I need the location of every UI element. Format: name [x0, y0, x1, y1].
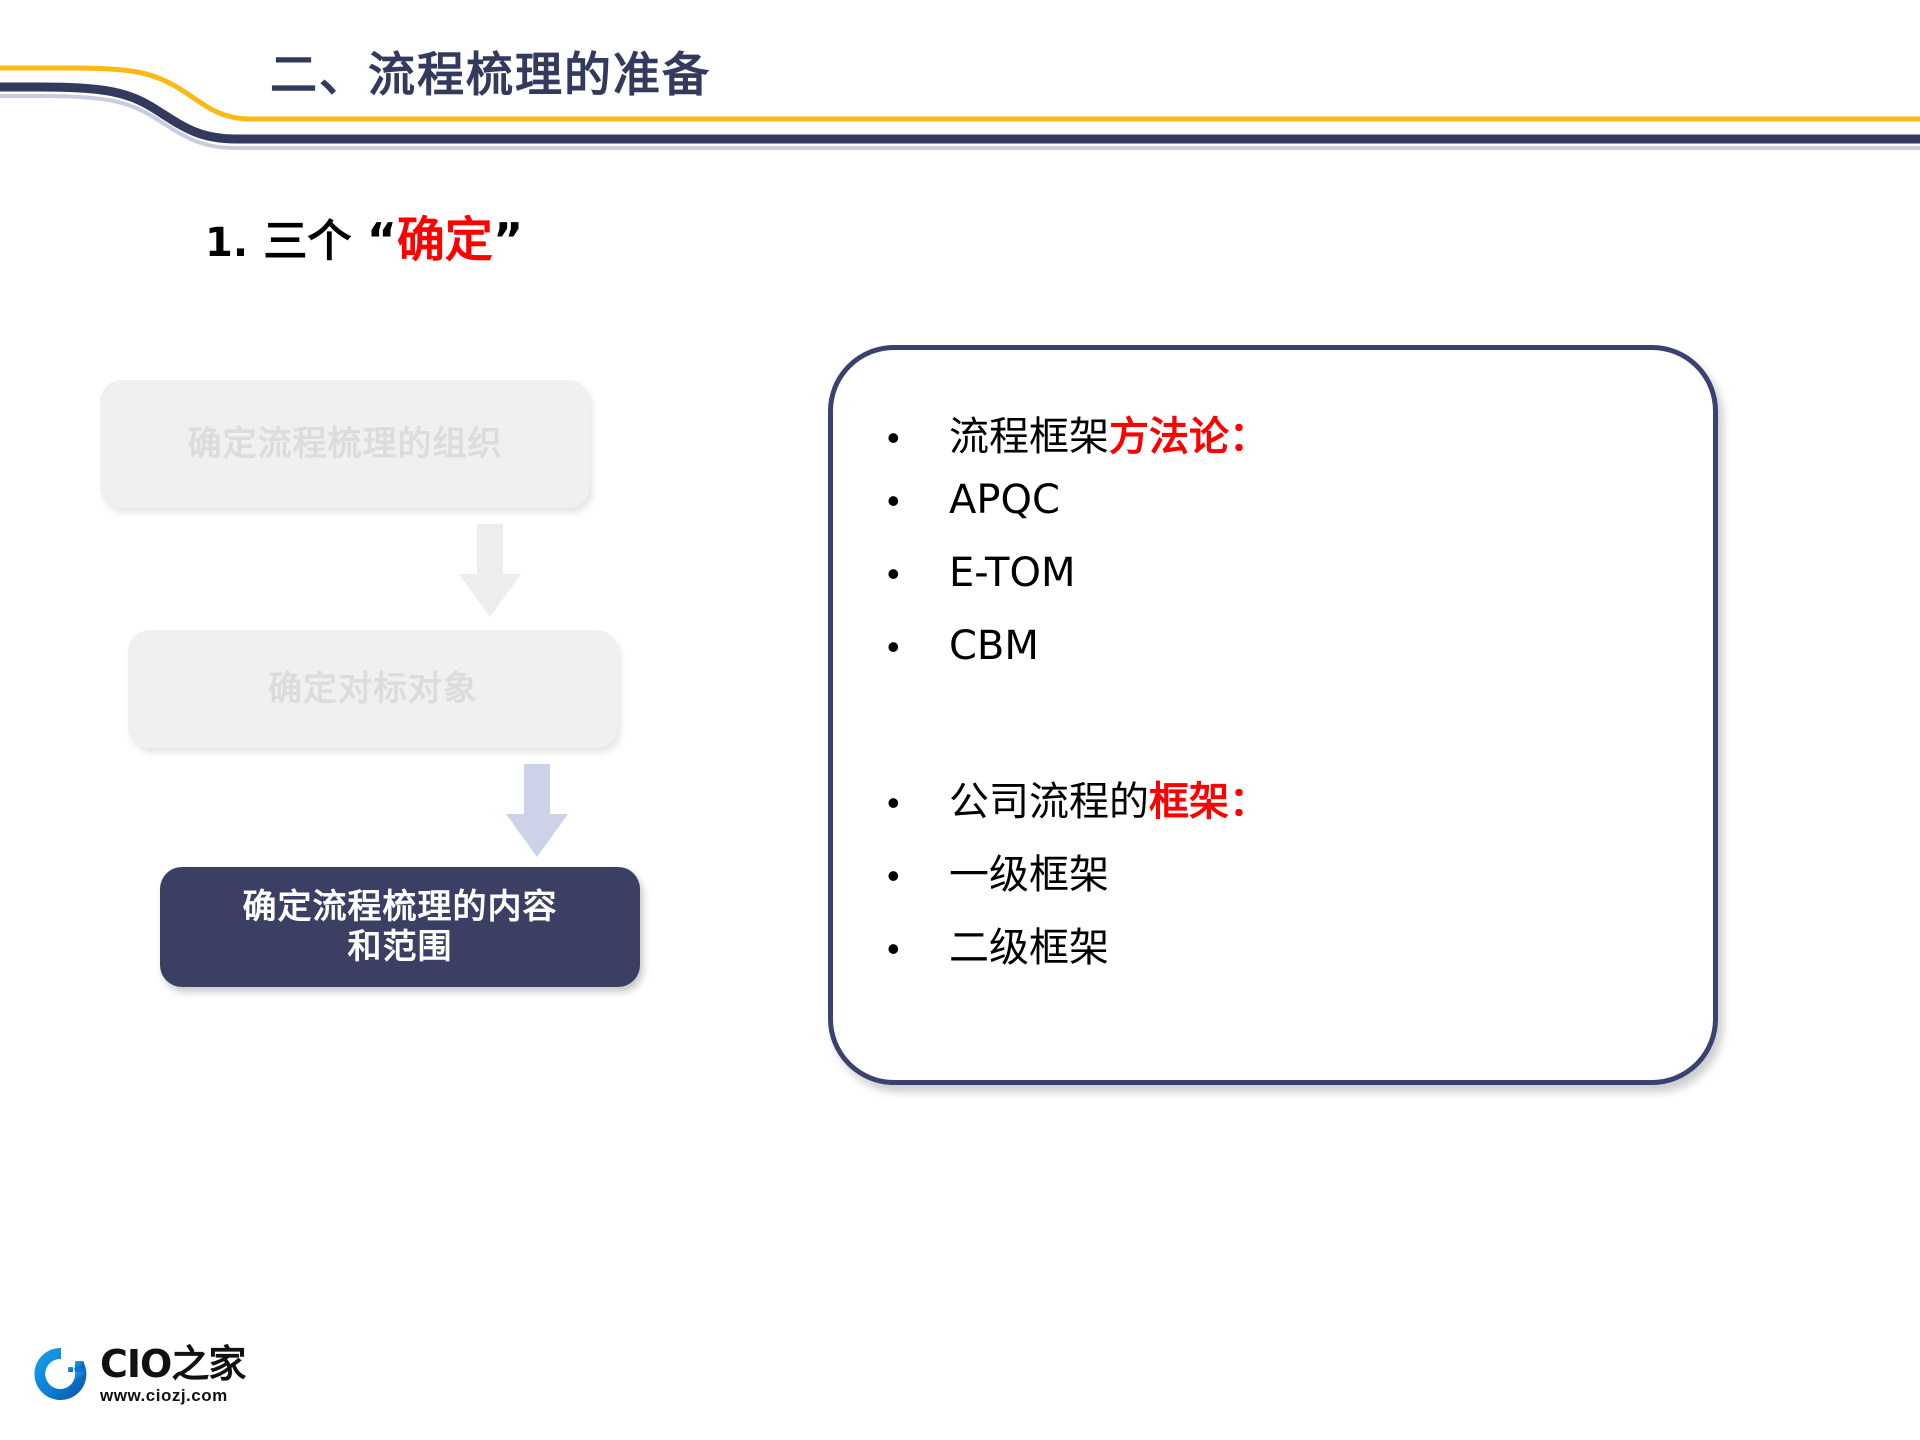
section-number: 1.	[205, 220, 248, 266]
list-item-text: E-TOM	[949, 550, 1075, 596]
list-item-text: APQC	[949, 477, 1060, 523]
list-item[interactable]: • CBM	[863, 623, 1683, 696]
bullet-icon: •	[863, 931, 949, 967]
flow-step-label-line1: 确定流程梳理的内容	[243, 887, 558, 927]
list-item[interactable]: • 二级框架	[863, 915, 1683, 988]
list-item-text: 一级框架	[949, 842, 1109, 900]
list-item-plain: 公司流程的	[949, 779, 1149, 825]
list-item[interactable]: • 公司流程的框架：	[863, 769, 1683, 842]
bullet-icon: •	[863, 858, 949, 894]
bullet-icon: •	[863, 629, 949, 665]
cio-circle-icon-svg	[30, 1343, 92, 1405]
list-item[interactable]: • 一级框架	[863, 842, 1683, 915]
quote-close: ”	[493, 213, 523, 267]
list-item-text: 二级框架	[949, 915, 1109, 973]
bullet-icon: •	[863, 785, 949, 821]
bullet-icon: •	[863, 420, 949, 456]
logo-name: CIO之家	[100, 1345, 245, 1383]
down-arrow-2-icon	[502, 764, 572, 860]
flow-step-label-multiline: 确定流程梳理的内容 和范围	[243, 887, 558, 967]
bullet-icon: •	[863, 556, 949, 592]
flow-diagram: 确定流程梳理的组织 确定对标对象 确定流程梳理的内容 和范围	[0, 380, 660, 1000]
section-emphasis: 确定	[397, 212, 493, 268]
flow-step-benchmark[interactable]: 确定对标对象	[128, 630, 618, 748]
list-item-plain: 流程框架	[949, 414, 1109, 460]
list-item-plain: CBM	[949, 623, 1039, 669]
flow-step-label: 确定对标对象	[268, 669, 478, 709]
section-label: 三个	[263, 216, 351, 267]
list-item-plain: 二级框架	[949, 925, 1109, 971]
list-item-highlight: 框架：	[1149, 779, 1269, 825]
bullet-icon: •	[863, 483, 949, 519]
down-arrow-1-icon	[455, 524, 525, 620]
list-item-text: CBM	[949, 623, 1039, 669]
logo-url: www.ciozj.com	[100, 1387, 245, 1404]
list-item-plain: APQC	[949, 477, 1060, 523]
quote-open: “	[367, 213, 397, 267]
list-item[interactable]: • 流程框架方法论：	[863, 404, 1683, 477]
list-item-text: 流程框架方法论：	[949, 404, 1269, 462]
page-title: 二、流程梳理的准备	[270, 36, 830, 105]
flow-step-scope[interactable]: 确定流程梳理的内容 和范围	[160, 867, 640, 987]
list-item[interactable]: • APQC	[863, 477, 1683, 550]
list-item[interactable]: • E-TOM	[863, 550, 1683, 623]
flow-step-label-line2: 和范围	[348, 927, 453, 967]
footer-logo: CIO之家 www.ciozj.com	[30, 1335, 290, 1413]
logo-wordmark: CIO之家 www.ciozj.com	[100, 1345, 245, 1404]
list-spacer	[863, 696, 1683, 769]
list-item-plain: 一级框架	[949, 852, 1109, 898]
list-item-plain: E-TOM	[949, 550, 1075, 596]
list-item-text: 公司流程的框架：	[949, 769, 1269, 827]
content-panel: • 流程框架方法论： • APQC • E-TOM • CBM • 公司流程的框…	[828, 345, 1718, 1085]
list-item-highlight: 方法论：	[1109, 414, 1269, 460]
bullet-list: • 流程框架方法论： • APQC • E-TOM • CBM • 公司流程的框…	[863, 404, 1683, 988]
flow-step-organization[interactable]: 确定流程梳理的组织	[100, 380, 590, 508]
section-heading: 1. 三个 “确定”	[205, 200, 523, 270]
header-band: 二、流程梳理的准备	[0, 0, 1920, 170]
cio-circle-icon	[30, 1343, 92, 1405]
flow-step-label: 确定流程梳理的组织	[188, 424, 503, 464]
